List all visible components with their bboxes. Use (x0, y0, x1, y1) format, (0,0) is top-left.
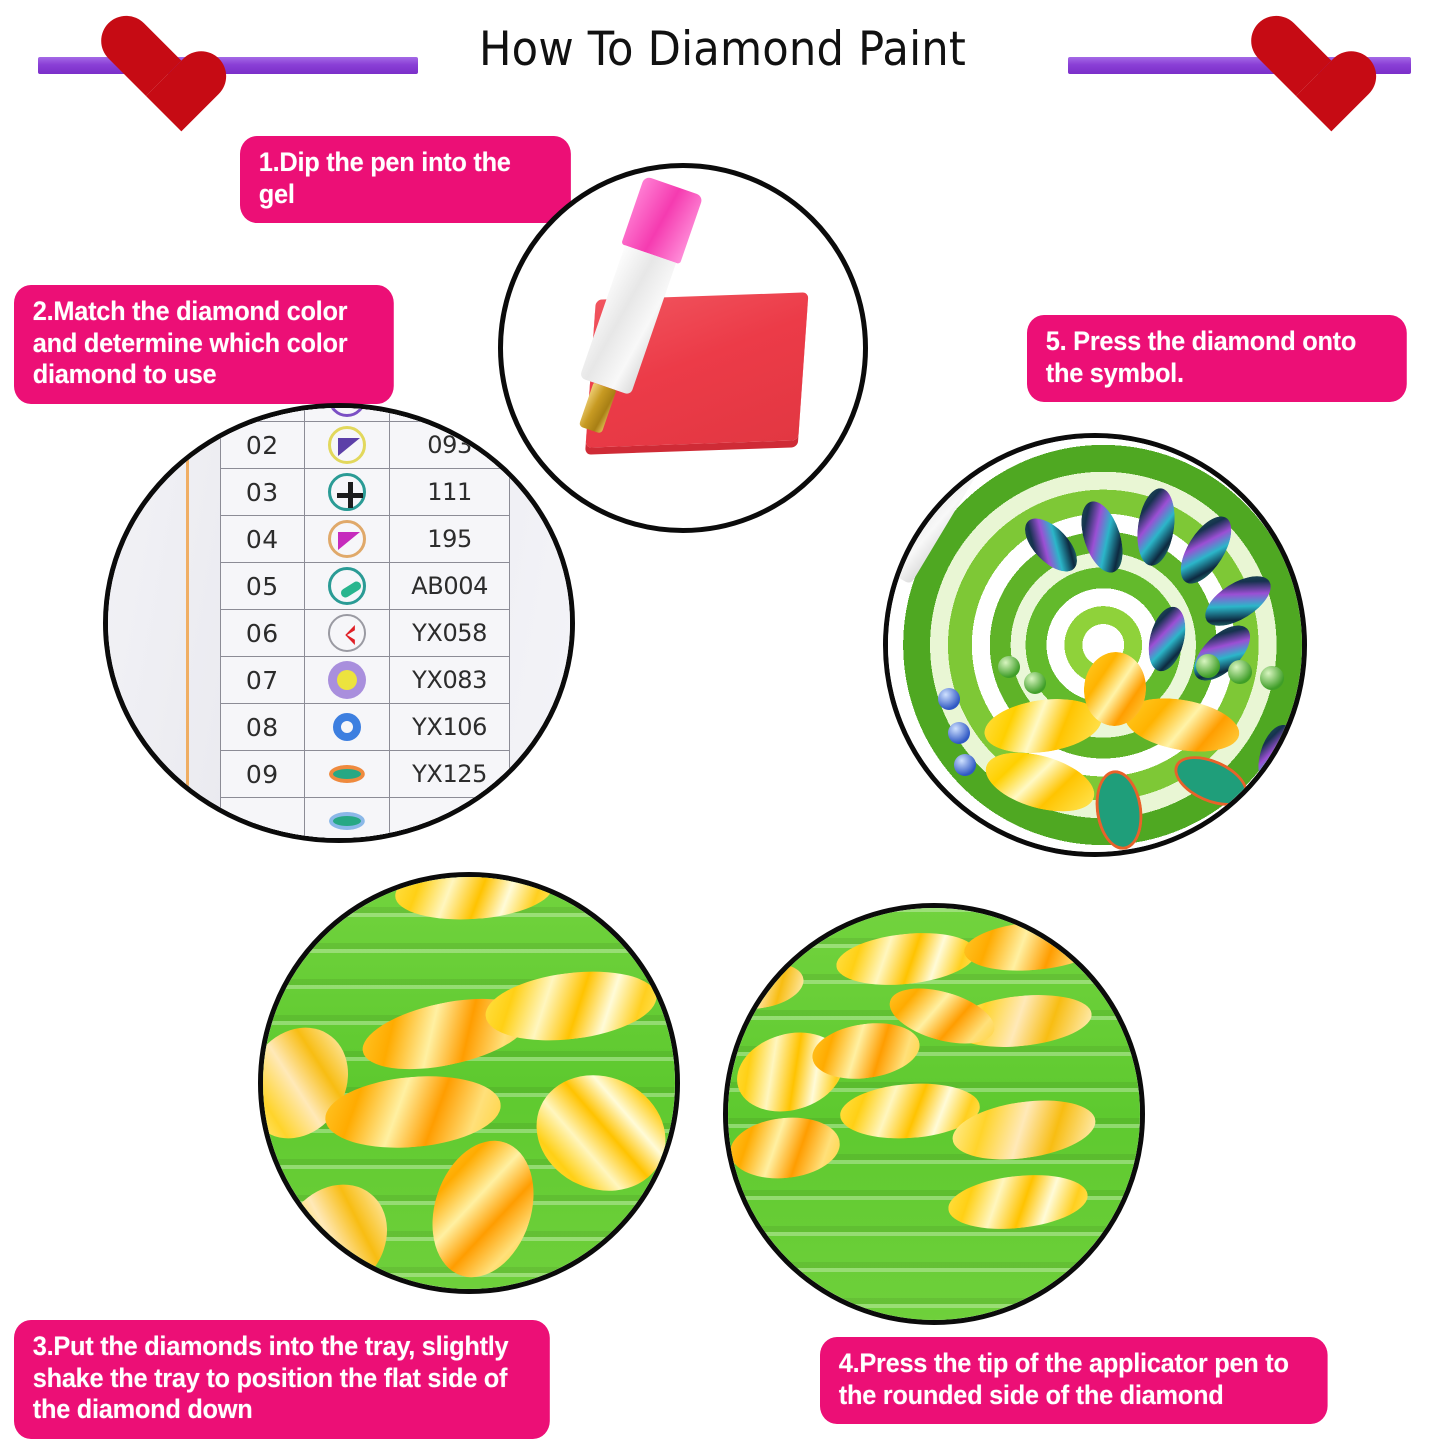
magenta-triangle-icon (328, 520, 366, 558)
chart-code: AB004 (390, 563, 510, 610)
chevron-left-icon (328, 614, 366, 652)
blue-ring-icon (328, 708, 366, 746)
page-header: How To Diamond Paint (0, 0, 1445, 115)
sheet-margin-line-left (186, 408, 189, 838)
table-row: 03 111 (221, 469, 510, 516)
round-gem (954, 754, 976, 776)
round-gem (938, 688, 960, 710)
chart-symbol-cell (304, 403, 390, 422)
table-row: 05 AB004 (221, 563, 510, 610)
capsule-icon (328, 567, 366, 605)
round-gem (1228, 660, 1252, 684)
chart-code: 028 (390, 403, 510, 422)
table-row: 02 093 (221, 422, 510, 469)
yellow-disc-icon (328, 661, 366, 699)
chart-number: 03 (221, 469, 305, 516)
round-gem (1196, 654, 1220, 678)
chart-symbol-cell (304, 469, 390, 516)
color-chart-table: 01 028 02 093 03 (220, 403, 510, 843)
pen-cap (748, 903, 808, 907)
chart-code: YX106 (390, 704, 510, 751)
step-4-photo-pen-picks-diamond (723, 903, 1145, 1325)
chart-number: 07 (221, 657, 305, 704)
chart-code: 195 (390, 516, 510, 563)
round-gem (1024, 672, 1046, 694)
step-3-photo-diamonds-in-tray (258, 872, 680, 1294)
table-row: 09 YX125 (221, 751, 510, 798)
chart-number: 02 (221, 422, 305, 469)
chart-code (390, 798, 510, 844)
chart-sheet: 01 028 02 093 03 (108, 408, 570, 838)
chart-number: 05 (221, 563, 305, 610)
chart-number (221, 798, 305, 844)
chart-number: 08 (221, 704, 305, 751)
table-row (221, 798, 510, 844)
table-row: 06 YX058 (221, 610, 510, 657)
chart-symbol-cell (304, 657, 390, 704)
eye-shape-icon (328, 755, 366, 793)
purple-triangle-icon (328, 426, 366, 464)
table-row: 04 195 (221, 516, 510, 563)
chart-symbol-cell (304, 422, 390, 469)
round-gem (1260, 666, 1284, 690)
page-title: How To Diamond Paint (58, 22, 1387, 77)
chart-code: YX125 (390, 751, 510, 798)
chart-code: YX058 (390, 610, 510, 657)
table-row: 08 YX106 (221, 704, 510, 751)
step-4-label: 4.Press the tip of the applicator pen to… (820, 1337, 1328, 1424)
chart-number: 06 (221, 610, 305, 657)
eye-shape-icon (328, 802, 366, 840)
two-blue-blobs-icon (328, 403, 366, 417)
round-gem (948, 722, 970, 744)
step-3-label: 3.Put the diamonds into the tray, slight… (14, 1320, 550, 1439)
chart-code: 093 (390, 422, 510, 469)
round-gem (998, 656, 1020, 678)
chart-code: 111 (390, 469, 510, 516)
table-row: 01 028 (221, 403, 510, 422)
pen-tip (579, 383, 617, 434)
step-5-photo-press-onto-symbol (883, 433, 1307, 857)
chart-number: 09 (221, 751, 305, 798)
step-2-photo-color-chart: 01 028 02 093 03 (103, 403, 575, 843)
chart-number: 01 (221, 403, 305, 422)
chart-symbol-cell (304, 516, 390, 563)
table-row: 07 YX083 (221, 657, 510, 704)
chart-number: 04 (221, 516, 305, 563)
step-5-label: 5. Press the diamond onto the symbol. (1027, 315, 1407, 402)
chart-symbol-cell (304, 563, 390, 610)
chart-symbol-cell (304, 798, 390, 844)
chart-symbol-cell (304, 704, 390, 751)
step-2-label: 2.Match the diamond color and determine … (14, 285, 394, 404)
chart-code: YX083 (390, 657, 510, 704)
chart-symbol-cell (304, 751, 390, 798)
chart-symbol-cell (304, 610, 390, 657)
plus-icon (328, 473, 366, 511)
